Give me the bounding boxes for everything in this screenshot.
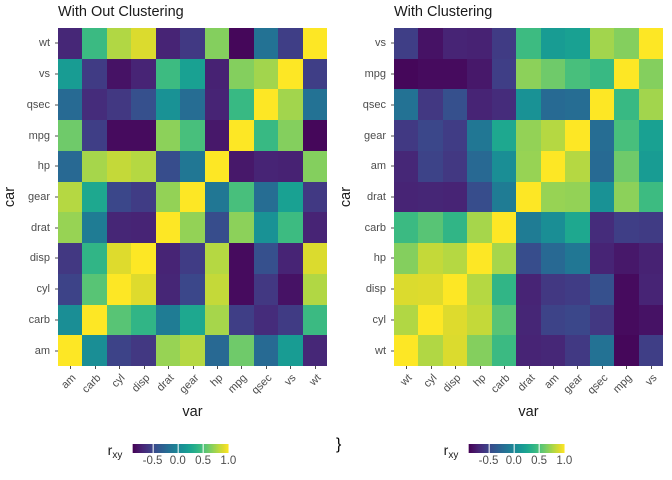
legend-tick-mark — [203, 444, 204, 453]
x-tick-mark — [315, 366, 316, 369]
y-tick-mark — [391, 74, 394, 75]
heatmap-cell — [516, 151, 540, 182]
heatmap-cell — [467, 59, 491, 90]
heatmap-cell — [82, 28, 106, 59]
heatmap-cell — [58, 28, 82, 59]
legend-ticklabels-left: -0.50.00.51.0 — [132, 455, 228, 469]
heatmap-cell — [590, 151, 614, 182]
heatmap-cell — [467, 182, 491, 213]
heatmap-cell — [82, 335, 106, 366]
heatmap-cell — [541, 274, 565, 305]
heatmap-cell — [467, 305, 491, 336]
heatmap-cell — [467, 28, 491, 59]
y-tick-mark — [391, 135, 394, 136]
x-tick-mark — [95, 366, 96, 369]
heatmap-cell — [229, 335, 253, 366]
heatmap-cell — [229, 212, 253, 243]
heatmap-cell — [303, 212, 327, 243]
heatmap-cell — [541, 120, 565, 151]
legend-tick-label: 1.0 — [556, 455, 572, 467]
x-tick-mark — [168, 366, 169, 369]
heatmap-cell — [443, 243, 467, 274]
x-tick-mark — [480, 366, 481, 369]
heatmap-cell — [394, 28, 418, 59]
heatmap-cell — [394, 151, 418, 182]
legend-tick-mark — [153, 444, 154, 453]
heatmap-panel-right[interactable] — [394, 28, 663, 366]
x-tick-mark — [290, 366, 291, 369]
heatmap-cell — [180, 274, 204, 305]
heatmap-cell — [131, 89, 155, 120]
heatmap-cell — [254, 243, 278, 274]
heatmap-cell — [614, 335, 638, 366]
heatmap-cell — [180, 305, 204, 336]
heatmap-cell — [303, 120, 327, 151]
heatmap-cell — [516, 335, 540, 366]
heatmap-cell — [156, 274, 180, 305]
legend-left: rxy -0.50.00.51.0 — [0, 436, 336, 476]
y-tick-mark — [55, 227, 58, 228]
heatmap-cell — [541, 212, 565, 243]
heatmap-cell — [278, 151, 302, 182]
heatmap-cell — [614, 89, 638, 120]
heatmap-cell — [254, 120, 278, 151]
heatmap-cell — [394, 89, 418, 120]
heatmap-cell — [614, 212, 638, 243]
heatmap-cell — [590, 28, 614, 59]
heatmap-cell — [180, 335, 204, 366]
facet-with-clustering: With Clustering vsmpgqsecgearamdratcarbh… — [336, 0, 672, 430]
y-axis-title-left: car — [2, 28, 18, 366]
heatmap-cell — [467, 243, 491, 274]
heatmap-cell — [303, 151, 327, 182]
y-tick-mark — [391, 227, 394, 228]
heatmap-cell — [639, 182, 663, 213]
x-tick-mark — [266, 366, 267, 369]
heatmap-cell — [394, 212, 418, 243]
heatmap-cell — [82, 243, 106, 274]
heatmap-cell — [614, 59, 638, 90]
legend-colorbar-right — [468, 444, 564, 453]
y-tick-mark — [391, 197, 394, 198]
legend-tick-label: -0.5 — [143, 455, 163, 467]
heatmap-cell — [254, 274, 278, 305]
heatmap-cell — [467, 89, 491, 120]
heatmap-cell — [467, 274, 491, 305]
heatmap-cell — [565, 28, 589, 59]
heatmap-cell — [614, 305, 638, 336]
heatmap-cell — [156, 182, 180, 213]
heatmap-cell — [131, 243, 155, 274]
heatmap-cell — [492, 305, 516, 336]
heatmap-cell — [180, 89, 204, 120]
heatmap-cell — [418, 335, 442, 366]
heatmap-cell — [516, 212, 540, 243]
x-tick-mark — [577, 366, 578, 369]
heatmap-cell — [639, 151, 663, 182]
heatmap-cell — [492, 59, 516, 90]
y-tick-mark — [55, 74, 58, 75]
heatmap-cell — [303, 59, 327, 90]
legend-tick-mark — [514, 444, 515, 453]
heatmap-cell — [107, 28, 131, 59]
y-tick-mark — [391, 350, 394, 351]
heatmap-cell — [131, 212, 155, 243]
heatmap-cell — [541, 89, 565, 120]
heatmap-cell — [565, 212, 589, 243]
heatmap-cell — [492, 243, 516, 274]
heatmap-cell — [180, 59, 204, 90]
heatmap-cell — [303, 305, 327, 336]
heatmap-cell — [443, 274, 467, 305]
x-tick-mark — [70, 366, 71, 369]
legend-title-left: rxy — [108, 436, 133, 458]
y-tick-mark — [391, 43, 394, 44]
heatmap-cell — [82, 274, 106, 305]
heatmap-cell — [205, 28, 229, 59]
legend-tick-label: 0.5 — [531, 455, 547, 467]
heatmap-cell — [418, 305, 442, 336]
y-tick-mark — [55, 350, 58, 351]
heatmap-cell — [278, 274, 302, 305]
heatmap-cell — [229, 89, 253, 120]
legend-colorbar-left — [132, 444, 228, 453]
heatmap-cell — [58, 89, 82, 120]
legend-tick-mark — [489, 444, 490, 453]
heatmap-cell — [565, 335, 589, 366]
heatmap-cell — [82, 120, 106, 151]
x-tick-mark — [241, 366, 242, 369]
heatmap-cell — [229, 182, 253, 213]
heatmap-cell — [82, 305, 106, 336]
heatmap-cell — [565, 120, 589, 151]
heatmap-cell — [590, 182, 614, 213]
heatmap-cell — [443, 28, 467, 59]
heatmap-cell — [107, 89, 131, 120]
x-tick-mark — [119, 366, 120, 369]
heatmap-cell — [541, 335, 565, 366]
heatmap-cell — [82, 212, 106, 243]
heatmap-cell — [394, 243, 418, 274]
heatmap-cell — [156, 335, 180, 366]
heatmap-cell — [394, 274, 418, 305]
heatmap-cell — [639, 59, 663, 90]
y-tick-mark — [55, 258, 58, 259]
heatmap-cell — [180, 182, 204, 213]
heatmap-cell — [418, 120, 442, 151]
y-axis-title-right: car — [338, 28, 354, 366]
heatmap-cell — [229, 59, 253, 90]
heatmap-cell — [541, 28, 565, 59]
heatmap-cell — [229, 274, 253, 305]
heatmap-cell — [205, 243, 229, 274]
heatmap-cell — [58, 243, 82, 274]
heatmap-cell — [614, 182, 638, 213]
heatmap-cell — [541, 243, 565, 274]
heatmap-cell — [303, 182, 327, 213]
heatmap-cell — [107, 59, 131, 90]
heatmap-cell — [156, 212, 180, 243]
heatmap-cell — [303, 28, 327, 59]
heatmap-cell — [639, 274, 663, 305]
heatmap-cell — [205, 305, 229, 336]
heatmap-cell — [418, 182, 442, 213]
y-tick-mark — [55, 166, 58, 167]
heatmap-cell — [107, 335, 131, 366]
legend-tick-label: 0.0 — [170, 455, 186, 467]
heatmap-cell — [205, 274, 229, 305]
heatmap-cell — [131, 59, 155, 90]
heatmap-cell — [107, 274, 131, 305]
heatmap-cell — [639, 305, 663, 336]
legend-tick-mark — [178, 444, 179, 453]
heatmap-cell — [278, 212, 302, 243]
heatmap-cell — [590, 243, 614, 274]
heatmap-cell — [639, 243, 663, 274]
heatmap-cell — [303, 243, 327, 274]
heatmap-cell — [467, 120, 491, 151]
y-tick-mark — [55, 43, 58, 44]
heatmap-cell — [565, 305, 589, 336]
heatmap-cell — [590, 89, 614, 120]
heatmap-cell — [254, 151, 278, 182]
heatmap-cell — [229, 151, 253, 182]
legend-ticklabels-right: -0.50.00.51.0 — [468, 455, 564, 469]
heatmap-cell — [614, 120, 638, 151]
heatmap-cell — [131, 151, 155, 182]
heatmap-cell — [418, 89, 442, 120]
heatmap-cell — [180, 28, 204, 59]
heatmap-cell — [418, 28, 442, 59]
heatmap-cell — [492, 274, 516, 305]
heatmap-cell — [82, 59, 106, 90]
heatmap-cell — [82, 182, 106, 213]
heatmap-cell — [278, 335, 302, 366]
heatmap-cell — [639, 89, 663, 120]
y-tick-mark — [55, 197, 58, 198]
heatmap-cell — [590, 305, 614, 336]
heatmap-cell — [516, 243, 540, 274]
heatmap-cell — [443, 151, 467, 182]
heatmap-cell — [565, 182, 589, 213]
heatmap-cell — [639, 212, 663, 243]
heatmap-cell — [156, 120, 180, 151]
heatmap-cell — [614, 274, 638, 305]
heatmap-cell — [156, 89, 180, 120]
heatmap-cell — [58, 335, 82, 366]
heatmap-cell — [492, 28, 516, 59]
plot-title-left: With Out Clustering — [58, 4, 184, 20]
heatmap-cell — [590, 335, 614, 366]
heatmap-cell — [131, 305, 155, 336]
legend-tick-label: 0.5 — [195, 455, 211, 467]
heatmap-cell — [254, 335, 278, 366]
heatmap-cell — [278, 305, 302, 336]
heatmap-cell — [565, 274, 589, 305]
heatmap-cell — [131, 274, 155, 305]
legend-right: rxy -0.50.00.51.0 } — [336, 436, 672, 476]
heatmap-cell — [614, 151, 638, 182]
heatmap-cell — [229, 243, 253, 274]
heatmap-cell — [443, 89, 467, 120]
plot-title-right: With Clustering — [394, 4, 492, 20]
heatmap-cell — [229, 28, 253, 59]
heatmap-cell — [303, 335, 327, 366]
heatmap-cell — [58, 59, 82, 90]
heatmap-cell — [565, 89, 589, 120]
heatmap-cell — [443, 120, 467, 151]
heatmap-cell — [156, 28, 180, 59]
heatmap-cell — [614, 28, 638, 59]
heatmap-cell — [639, 120, 663, 151]
heatmap-cell — [278, 120, 302, 151]
legend-tick-label: 0.0 — [506, 455, 522, 467]
heatmap-cell — [107, 120, 131, 151]
heatmap-cell — [492, 151, 516, 182]
legend-tick-mark — [228, 444, 229, 453]
heatmap-cell — [418, 59, 442, 90]
legend-tick-label: 1.0 — [220, 455, 236, 467]
heatmap-cell — [492, 89, 516, 120]
heatmap-cell — [205, 59, 229, 90]
heatmap-cell — [492, 335, 516, 366]
heatmap-cell — [278, 59, 302, 90]
heatmap-cell — [590, 212, 614, 243]
heatmap-cell — [180, 151, 204, 182]
heatmap-panel-left[interactable] — [58, 28, 327, 366]
heatmap-cell — [418, 212, 442, 243]
heatmap-cell — [156, 243, 180, 274]
heatmap-cell — [590, 274, 614, 305]
x-tick-mark — [529, 366, 530, 369]
x-tick-mark — [455, 366, 456, 369]
x-tick-mark — [602, 366, 603, 369]
x-axis-title-right: var — [394, 404, 663, 420]
heatmap-cell — [516, 28, 540, 59]
heatmap-cell — [467, 212, 491, 243]
heatmap-cell — [107, 212, 131, 243]
heatmap-cell — [205, 212, 229, 243]
heatmap-cell — [303, 89, 327, 120]
heatmap-cell — [394, 120, 418, 151]
heatmap-cell — [614, 243, 638, 274]
heatmap-cell — [205, 151, 229, 182]
heatmap-cell — [565, 59, 589, 90]
legend-tick-mark — [564, 444, 565, 453]
heatmap-cell — [82, 89, 106, 120]
heatmap-cell — [443, 305, 467, 336]
heatmap-cell — [278, 89, 302, 120]
heatmap-cell — [180, 243, 204, 274]
heatmap-cell — [180, 120, 204, 151]
heatmap-cell — [58, 120, 82, 151]
heatmap-cell — [254, 59, 278, 90]
heatmap-cell — [516, 120, 540, 151]
facet-without-clustering: With Out Clustering wtvsqsecmpghpgeardra… — [0, 0, 336, 430]
heatmap-cell — [107, 182, 131, 213]
heatmap-cell — [278, 243, 302, 274]
heatmap-cell — [229, 120, 253, 151]
y-tick-mark — [391, 166, 394, 167]
heatmap-cell — [639, 335, 663, 366]
heatmap-cell — [394, 305, 418, 336]
y-tick-mark — [55, 104, 58, 105]
heatmap-cell — [565, 151, 589, 182]
heatmap-cell — [205, 335, 229, 366]
heatmap-cell — [107, 243, 131, 274]
heatmap-cell — [254, 305, 278, 336]
y-tick-mark — [391, 104, 394, 105]
heatmap-cell — [394, 335, 418, 366]
heatmap-cell — [58, 305, 82, 336]
y-tick-mark — [391, 289, 394, 290]
heatmap-cell — [516, 305, 540, 336]
y-tick-mark — [55, 135, 58, 136]
x-tick-mark — [553, 366, 554, 369]
heatmap-cell — [107, 305, 131, 336]
heatmap-cell — [254, 89, 278, 120]
heatmap-cell — [278, 28, 302, 59]
x-tick-mark — [144, 366, 145, 369]
heatmap-cell — [516, 59, 540, 90]
heatmap-cell — [516, 274, 540, 305]
heatmap-cell — [229, 305, 253, 336]
heatmap-cell — [205, 182, 229, 213]
heatmap-cell — [590, 120, 614, 151]
heatmap-cell — [516, 182, 540, 213]
heatmap-cell — [541, 59, 565, 90]
heatmap-cell — [418, 274, 442, 305]
x-tick-mark — [217, 366, 218, 369]
legend-tick-label: -0.5 — [479, 455, 499, 467]
heatmap-cell — [156, 151, 180, 182]
heatmap-cell — [565, 243, 589, 274]
heatmap-cell — [58, 151, 82, 182]
legend-title-right: rxy — [444, 436, 469, 458]
heatmap-cell — [418, 243, 442, 274]
heatmap-cell — [82, 151, 106, 182]
heatmap-cell — [131, 335, 155, 366]
y-tick-mark — [55, 319, 58, 320]
heatmap-cell — [303, 274, 327, 305]
heatmap-cell — [205, 89, 229, 120]
heatmap-cell — [418, 151, 442, 182]
x-tick-mark — [431, 366, 432, 369]
heatmap-cell — [590, 59, 614, 90]
x-tick-mark — [406, 366, 407, 369]
heatmap-cell — [639, 28, 663, 59]
x-tick-mark — [651, 366, 652, 369]
heatmap-cell — [394, 182, 418, 213]
heatmap-cell — [254, 182, 278, 213]
legend-tick-mark — [539, 444, 540, 453]
heatmap-cell — [205, 120, 229, 151]
heatmap-cell — [492, 212, 516, 243]
heatmap-cell — [516, 89, 540, 120]
x-tick-mark — [626, 366, 627, 369]
heatmap-cell — [541, 305, 565, 336]
heatmap-cell — [443, 182, 467, 213]
heatmap-cell — [58, 212, 82, 243]
y-tick-mark — [391, 258, 394, 259]
heatmap-cell — [107, 151, 131, 182]
heatmap-cell — [131, 28, 155, 59]
heatmap-cell — [541, 182, 565, 213]
heatmap-cell — [394, 59, 418, 90]
heatmap-cell — [467, 151, 491, 182]
heatmap-cell — [131, 120, 155, 151]
heatmap-cell — [254, 28, 278, 59]
